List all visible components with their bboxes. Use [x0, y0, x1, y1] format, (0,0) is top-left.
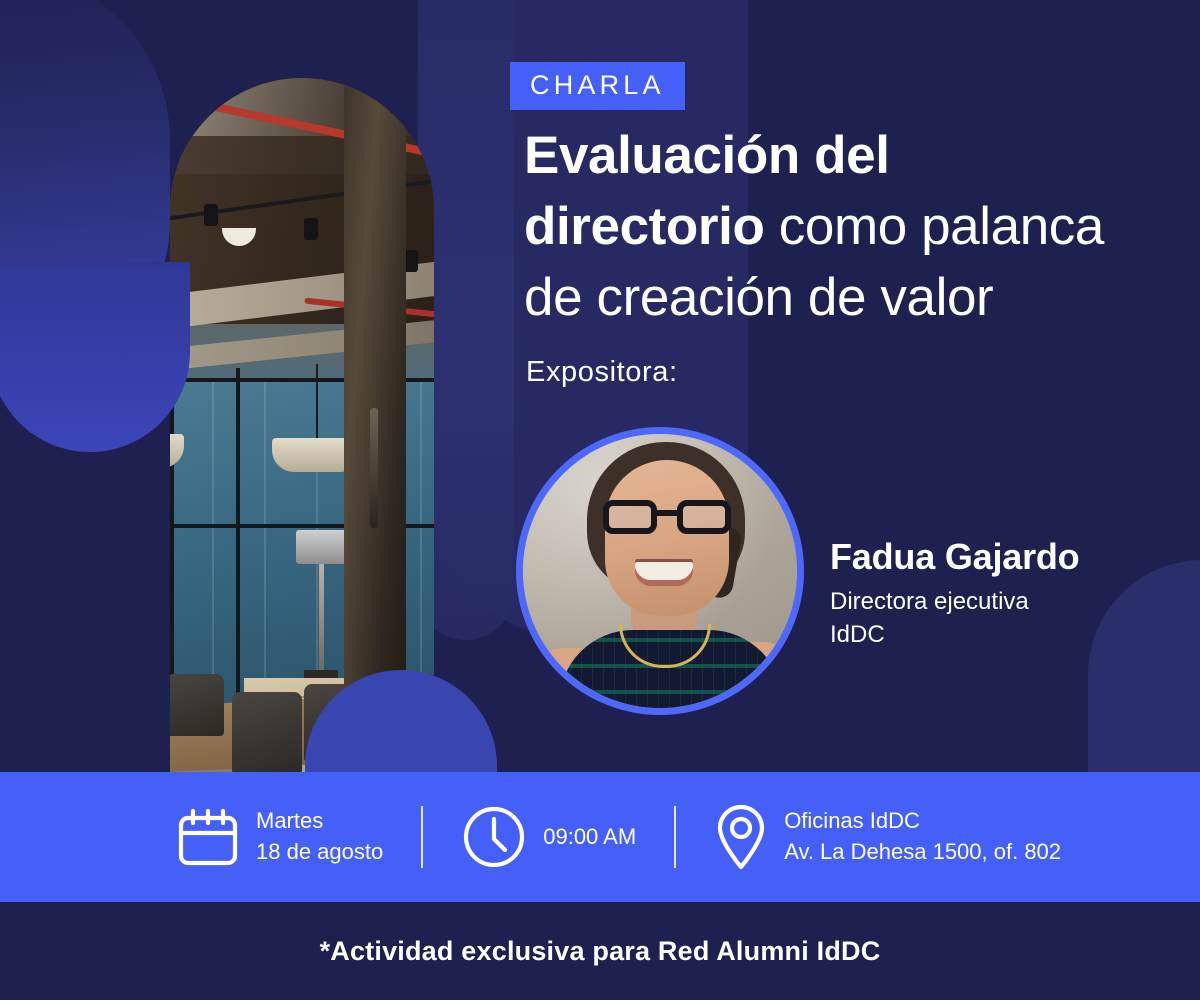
divider	[421, 806, 423, 868]
headline-line-2-rest: como palanca	[764, 197, 1104, 256]
calendar-icon	[178, 808, 238, 866]
location-pin-icon	[716, 804, 766, 870]
event-details-bar: Martes 18 de agosto 09:00 AM	[0, 772, 1200, 902]
portrait-face	[605, 460, 729, 616]
headline-line-3: de creación de valor	[524, 268, 993, 327]
headline-line-2-bold: directorio	[524, 197, 764, 256]
eyeglasses-icon	[603, 500, 731, 534]
avatar	[516, 427, 804, 715]
clock-icon	[463, 806, 525, 868]
event-flyer: CHARLA Evaluación del directorio como pa…	[0, 0, 1200, 1000]
portrait-glasses-bridge	[657, 510, 677, 516]
footer: *Actividad exclusiva para Red Alumni IdD…	[0, 902, 1200, 1000]
event-time-text: 09:00 AM	[543, 822, 636, 853]
page-title: Evaluación del directorio como palanca d…	[524, 120, 1184, 333]
portrait-lens-right	[677, 500, 731, 534]
exclusivity-note: *Actividad exclusiva para Red Alumni IdD…	[320, 936, 881, 967]
event-location-address: Av. La Dehesa 1500, of. 802	[784, 839, 1061, 864]
event-location-name: Oficinas IdDC	[784, 808, 920, 833]
event-location: Oficinas IdDC Av. La Dehesa 1500, of. 80…	[716, 804, 1061, 870]
speaker-role-line-2: IdDC	[830, 621, 885, 648]
event-date-day: 18 de agosto	[256, 839, 383, 864]
speaker-role: Directora ejecutiva IdDC	[830, 586, 1029, 651]
event-date: Martes 18 de agosto	[178, 806, 383, 868]
speaker-name: Fadua Gajardo	[830, 536, 1079, 578]
event-time: 09:00 AM	[463, 806, 636, 868]
event-date-text: Martes 18 de agosto	[256, 806, 383, 868]
category-badge: CHARLA	[510, 62, 685, 110]
portrait-smile	[635, 562, 693, 580]
portrait-lens-left	[603, 500, 657, 534]
divider	[674, 806, 676, 868]
headline-line-1: Evaluación del	[524, 126, 890, 185]
event-location-text: Oficinas IdDC Av. La Dehesa 1500, of. 80…	[784, 806, 1061, 868]
event-date-weekday: Martes	[256, 808, 323, 833]
speaker-role-line-1: Directora ejecutiva	[830, 588, 1029, 615]
speaker-label: Expositora:	[526, 356, 678, 389]
